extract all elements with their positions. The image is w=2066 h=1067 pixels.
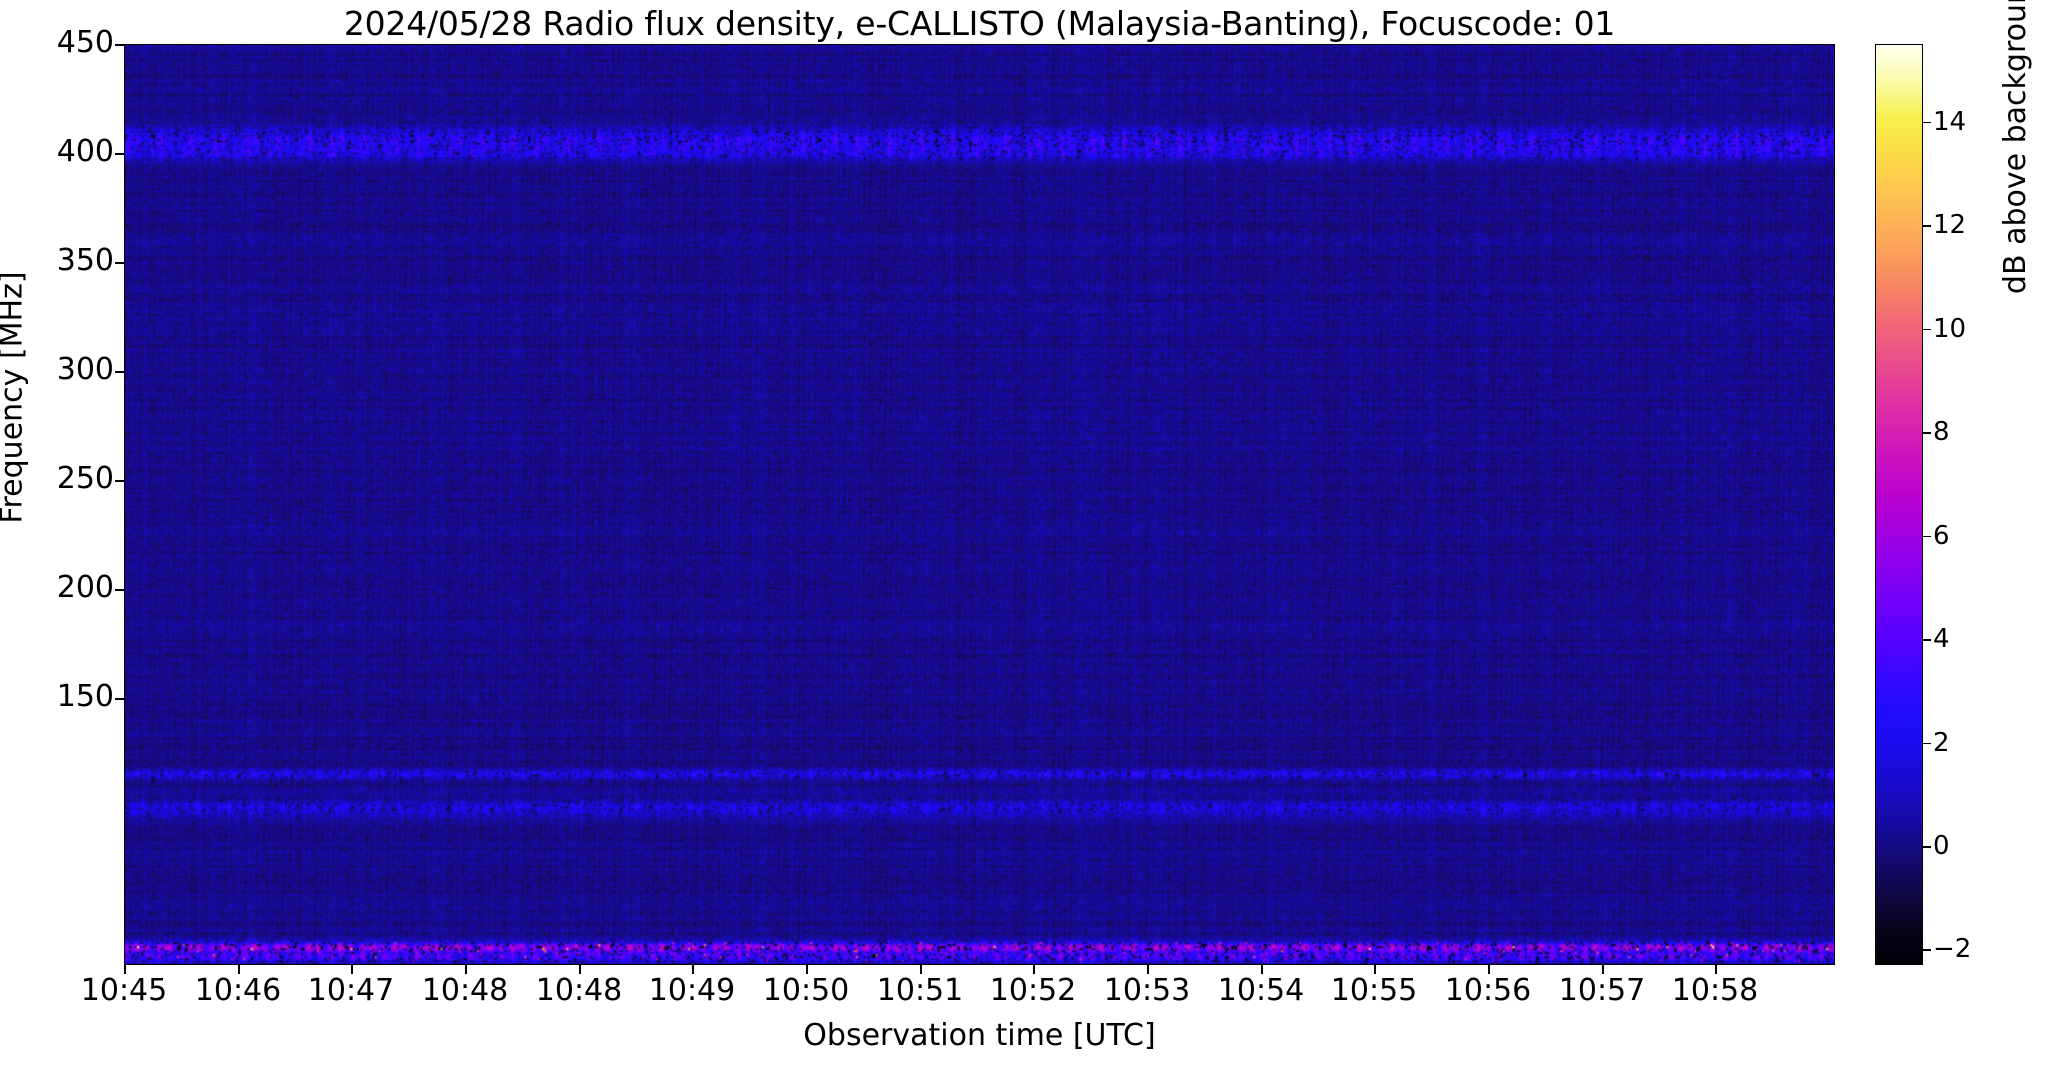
colorbar-label: dB above background <box>1998 0 2033 480</box>
x-tick-label: 10:58 <box>1615 975 1815 1007</box>
colorbar-tick-mark <box>1923 536 1931 538</box>
x-tick-mark <box>1715 965 1717 974</box>
colorbar-tick-label: 14 <box>1933 109 2053 135</box>
y-tick-mark <box>115 44 124 46</box>
x-tick-mark <box>1602 965 1604 974</box>
colorbar-tick-label: 4 <box>1933 626 2053 652</box>
x-tick-mark <box>1033 965 1035 974</box>
colorbar-tick-mark <box>1923 743 1931 745</box>
x-tick-mark <box>465 965 467 974</box>
x-tick-mark <box>351 965 353 974</box>
y-tick-label: 350 <box>0 246 114 276</box>
colorbar-tick-mark <box>1923 329 1931 331</box>
x-tick-mark <box>692 965 694 974</box>
y-tick-label: 300 <box>0 355 114 385</box>
y-tick-mark <box>115 371 124 373</box>
colorbar-tick-label: 0 <box>1933 833 2053 859</box>
colorbar-gradient <box>1875 44 1923 965</box>
colorbar-tick-mark <box>1923 846 1931 848</box>
colorbar-tick-mark <box>1923 949 1931 951</box>
y-tick-label: 250 <box>0 464 114 494</box>
colorbar-tick-mark <box>1923 639 1931 641</box>
colorbar-tick-label: 2 <box>1933 730 2053 756</box>
y-tick-mark <box>115 698 124 700</box>
x-tick-mark <box>920 965 922 974</box>
y-tick-label: 150 <box>0 682 114 712</box>
page-title: 2024/05/28 Radio flux density, e-CALLIST… <box>124 6 1835 42</box>
y-tick-label: 450 <box>0 28 114 58</box>
colorbar-tick-label: 10 <box>1933 316 2053 342</box>
colorbar-tick-label: −2 <box>1933 936 2053 962</box>
y-tick-mark <box>115 153 124 155</box>
y-tick-mark <box>115 589 124 591</box>
spectrogram-plot-area <box>124 44 1835 965</box>
x-tick-mark <box>124 965 126 974</box>
colorbar-tick-mark <box>1923 225 1931 227</box>
y-tick-label: 400 <box>0 137 114 167</box>
x-tick-mark <box>579 965 581 974</box>
x-tick-mark <box>1488 965 1490 974</box>
y-tick-mark <box>115 480 124 482</box>
colorbar-tick-label: 8 <box>1933 419 2053 445</box>
x-tick-mark <box>1147 965 1149 974</box>
x-axis-label: Observation time [UTC] <box>124 1018 1835 1053</box>
colorbar-tick-label: 12 <box>1933 212 2053 238</box>
x-tick-mark <box>1374 965 1376 974</box>
x-tick-mark <box>238 965 240 974</box>
colorbar-tick-label: 6 <box>1933 523 2053 549</box>
spectrogram-figure: 2024/05/28 Radio flux density, e-CALLIST… <box>0 0 2066 1067</box>
x-tick-mark <box>1261 965 1263 974</box>
x-tick-mark <box>806 965 808 974</box>
y-axis-label: Frequency [MHz] <box>0 248 30 548</box>
spectrogram-heatmap <box>125 45 1834 964</box>
colorbar-tick-mark <box>1923 432 1931 434</box>
y-tick-mark <box>115 262 124 264</box>
y-tick-label: 200 <box>0 573 114 603</box>
colorbar-tick-mark <box>1923 122 1931 124</box>
